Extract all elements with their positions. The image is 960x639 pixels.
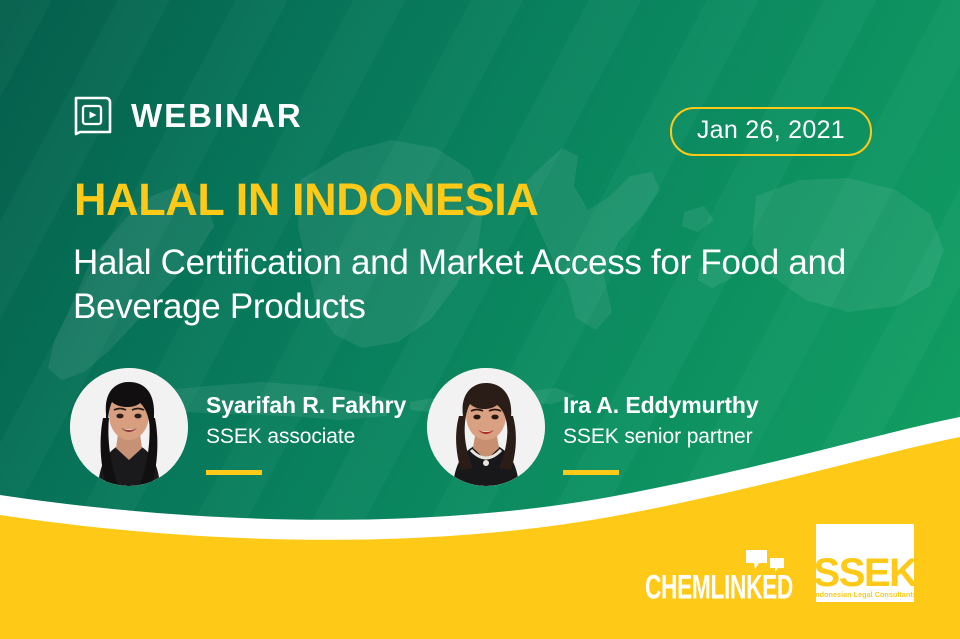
speaker-role: SSEK associate [206, 423, 406, 450]
webinar-label: WEBINAR [131, 99, 303, 132]
speaker-card: Ira A. Eddymurthy SSEK senior partner [427, 368, 759, 486]
speaker-name: Syarifah R. Fakhry [206, 392, 406, 420]
speaker-accent-rule [206, 470, 262, 475]
chemlinked-wordmark: CHEMLINKED [645, 567, 793, 604]
speaker-name: Ira A. Eddymurthy [563, 392, 759, 420]
play-in-screen-icon [72, 93, 114, 137]
webinar-banner: WEBINAR Jan 26, 2021 HALAL IN INDONESIA … [0, 0, 960, 639]
speaker-list: Syarifah R. Fakhry SSEK associate [70, 368, 890, 486]
page-subtitle: Halal Certification and Market Access fo… [73, 241, 873, 330]
avatar [70, 368, 188, 486]
page-title: HALAL IN INDONESIA [74, 176, 539, 223]
date-badge: Jan 26, 2021 [670, 107, 872, 156]
chemlinked-logo: CHEMLINKED [645, 548, 795, 604]
speaker-card: Syarifah R. Fakhry SSEK associate [70, 368, 427, 486]
speaker-role: SSEK senior partner [563, 423, 759, 450]
ssek-wordmark: SSEK [816, 551, 914, 595]
speaker-accent-rule [563, 470, 619, 475]
ssek-tagline: Indonesian Legal Consultants [816, 590, 914, 599]
webinar-lockup: WEBINAR [72, 93, 303, 137]
avatar [427, 368, 545, 486]
ssek-logo: SSEK Indonesian Legal Consultants [816, 524, 914, 610]
